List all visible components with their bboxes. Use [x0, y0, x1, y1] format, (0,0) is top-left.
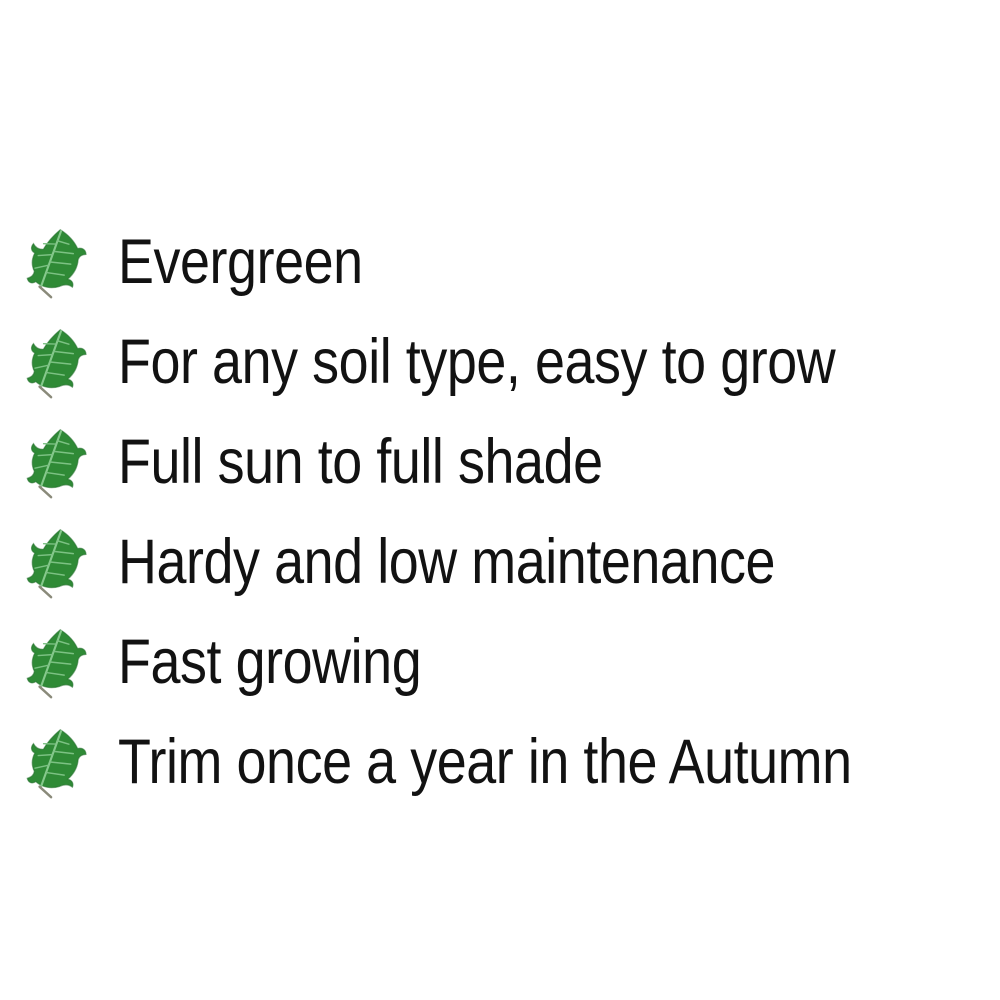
- list-item: For any soil type, easy to grow: [0, 312, 1000, 412]
- list-item: Fast growing: [0, 612, 1000, 712]
- feature-label: Trim once a year in the Autumn: [118, 731, 872, 794]
- plant-features-sheet: Evergreen: [0, 0, 1000, 1000]
- list-item: Full sun to full shade: [0, 412, 1000, 512]
- feature-label: Fast growing: [118, 631, 872, 694]
- leaf-icon: [22, 524, 92, 600]
- list-item: Hardy and low maintenance: [0, 512, 1000, 612]
- list-item: Trim once a year in the Autumn: [0, 712, 1000, 812]
- leaf-icon: [22, 224, 92, 300]
- feature-label: Hardy and low maintenance: [118, 531, 872, 594]
- feature-label: For any soil type, easy to grow: [118, 331, 872, 394]
- feature-list: Evergreen: [0, 212, 1000, 812]
- leaf-icon: [22, 424, 92, 500]
- list-item: Evergreen: [0, 212, 1000, 312]
- feature-label: Evergreen: [118, 231, 872, 294]
- leaf-icon: [22, 624, 92, 700]
- feature-label: Full sun to full shade: [118, 431, 872, 494]
- leaf-icon: [22, 724, 92, 800]
- leaf-icon: [22, 324, 92, 400]
